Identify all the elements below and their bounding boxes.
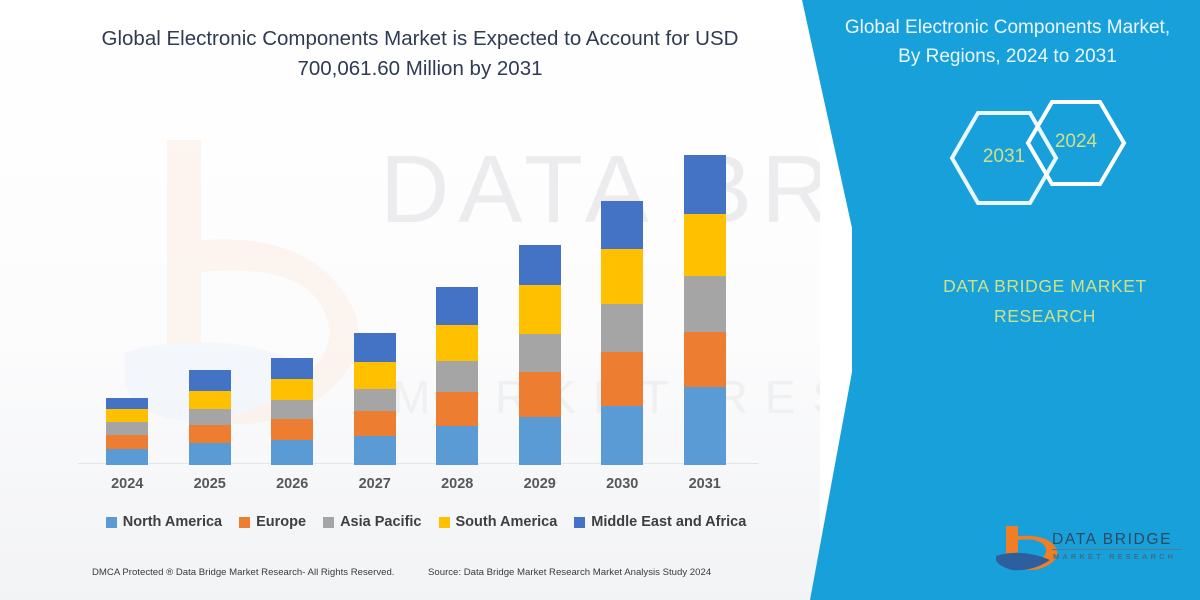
- legend-label: South America: [456, 514, 558, 530]
- legend-item-asia-pacific[interactable]: Asia Pacific: [323, 514, 421, 530]
- x-axis-label-2024: 2024: [106, 476, 148, 498]
- bar-segment: [271, 419, 313, 440]
- bar-2024: [106, 398, 148, 465]
- bar-segment: [684, 387, 726, 465]
- legend-item-south-america[interactable]: South America: [439, 514, 558, 530]
- bar-segment: [106, 398, 148, 409]
- legend-label: Middle East and Africa: [591, 514, 746, 530]
- bar-segment: [684, 155, 726, 214]
- legend-item-north-america[interactable]: North America: [106, 514, 222, 530]
- bar-segment: [189, 391, 231, 409]
- legend-swatch-icon: [106, 517, 117, 528]
- bar-segment: [354, 389, 396, 411]
- bar-segment: [436, 287, 478, 324]
- bar-segment: [436, 325, 478, 361]
- bar-segment: [519, 334, 561, 372]
- bar-segment: [519, 372, 561, 417]
- bar-2031: [684, 155, 726, 465]
- bar-2029: [519, 245, 561, 465]
- x-axis-label-2025: 2025: [189, 476, 231, 498]
- footer: DMCA Protected ® Data Bridge Market Rese…: [0, 567, 820, 591]
- bar-segment: [271, 358, 313, 379]
- bar-segment: [354, 362, 396, 389]
- legend-label: Europe: [256, 514, 306, 530]
- bar-segment: [519, 245, 561, 285]
- x-axis-label-2028: 2028: [436, 476, 478, 498]
- bar-segment: [519, 285, 561, 333]
- legend-label: Asia Pacific: [340, 514, 421, 530]
- x-axis-label-2030: 2030: [601, 476, 643, 498]
- x-axis-label-2027: 2027: [354, 476, 396, 498]
- chart-legend: North AmericaEuropeAsia PacificSouth Ame…: [86, 514, 766, 530]
- bar-2027: [354, 333, 396, 465]
- bar-segment: [436, 392, 478, 426]
- legend-label: North America: [123, 514, 222, 530]
- bar-segment: [189, 370, 231, 391]
- bar-segment: [106, 449, 148, 465]
- logo-name: DATA BRIDGE: [1052, 531, 1172, 549]
- bar-segment: [271, 379, 313, 400]
- brand-line-1: DATA BRIDGE MARKET: [905, 272, 1185, 302]
- brand-line-2: RESEARCH: [905, 302, 1185, 332]
- bar-segment: [601, 352, 643, 406]
- x-axis-label-2031: 2031: [684, 476, 726, 498]
- bar-2030: [601, 201, 643, 465]
- bar-segment: [684, 332, 726, 387]
- legend-swatch-icon: [439, 517, 450, 528]
- legend-swatch-icon: [323, 517, 334, 528]
- logo-subtitle: MARKET RESEARCH: [1053, 552, 1176, 561]
- bar-2025: [189, 370, 231, 465]
- bar-segment: [519, 417, 561, 465]
- bar-segment: [271, 440, 313, 465]
- chart-title: Global Electronic Components Market is E…: [70, 24, 770, 83]
- bar-segment: [354, 411, 396, 436]
- logo-divider: [1052, 549, 1182, 550]
- infographic-canvas: DATA BRIDGE MARKET RESEARCH Global Elect…: [0, 0, 1200, 600]
- bar-segment: [601, 304, 643, 352]
- bar-segment: [684, 214, 726, 276]
- bar-segment: [436, 426, 478, 465]
- stacked-bar-series: [86, 120, 746, 465]
- hexagon-label-2031: 2031: [972, 146, 1036, 168]
- bar-segment: [106, 422, 148, 435]
- branding-panel-title: Global Electronic Components Market, By …: [835, 14, 1180, 71]
- bar-2026: [271, 358, 313, 465]
- x-axis-label-2029: 2029: [519, 476, 561, 498]
- bar-segment: [354, 333, 396, 362]
- legend-item-middle-east-and-africa[interactable]: Middle East and Africa: [574, 514, 746, 530]
- bar-segment: [601, 201, 643, 249]
- bar-segment: [436, 361, 478, 392]
- bar-segment: [106, 409, 148, 422]
- bar-segment: [271, 400, 313, 419]
- footer-source: Source: Data Bridge Market Research Mark…: [428, 567, 711, 578]
- bar-segment: [189, 409, 231, 425]
- legend-swatch-icon: [239, 517, 250, 528]
- bar-segment: [189, 443, 231, 465]
- legend-swatch-icon: [574, 517, 585, 528]
- hexagon-label-2024: 2024: [1044, 131, 1108, 153]
- bar-segment: [189, 425, 231, 443]
- chart-panel: DATA BRIDGE MARKET RESEARCH Global Elect…: [0, 0, 820, 600]
- bar-2028: [436, 287, 478, 465]
- x-axis-label-2026: 2026: [271, 476, 313, 498]
- bar-segment: [106, 435, 148, 449]
- bar-segment: [601, 249, 643, 303]
- hexagon-badges: 2031 2024: [920, 98, 1150, 233]
- bar-segment: [354, 436, 396, 465]
- legend-item-europe[interactable]: Europe: [239, 514, 306, 530]
- bar-segment: [684, 276, 726, 331]
- x-axis-labels: 20242025202620272028202920302031: [86, 476, 746, 498]
- bar-segment: [601, 406, 643, 465]
- footer-copyright: DMCA Protected ® Data Bridge Market Rese…: [92, 567, 394, 578]
- brand-wordmark: DATA BRIDGE MARKET RESEARCH: [905, 272, 1185, 332]
